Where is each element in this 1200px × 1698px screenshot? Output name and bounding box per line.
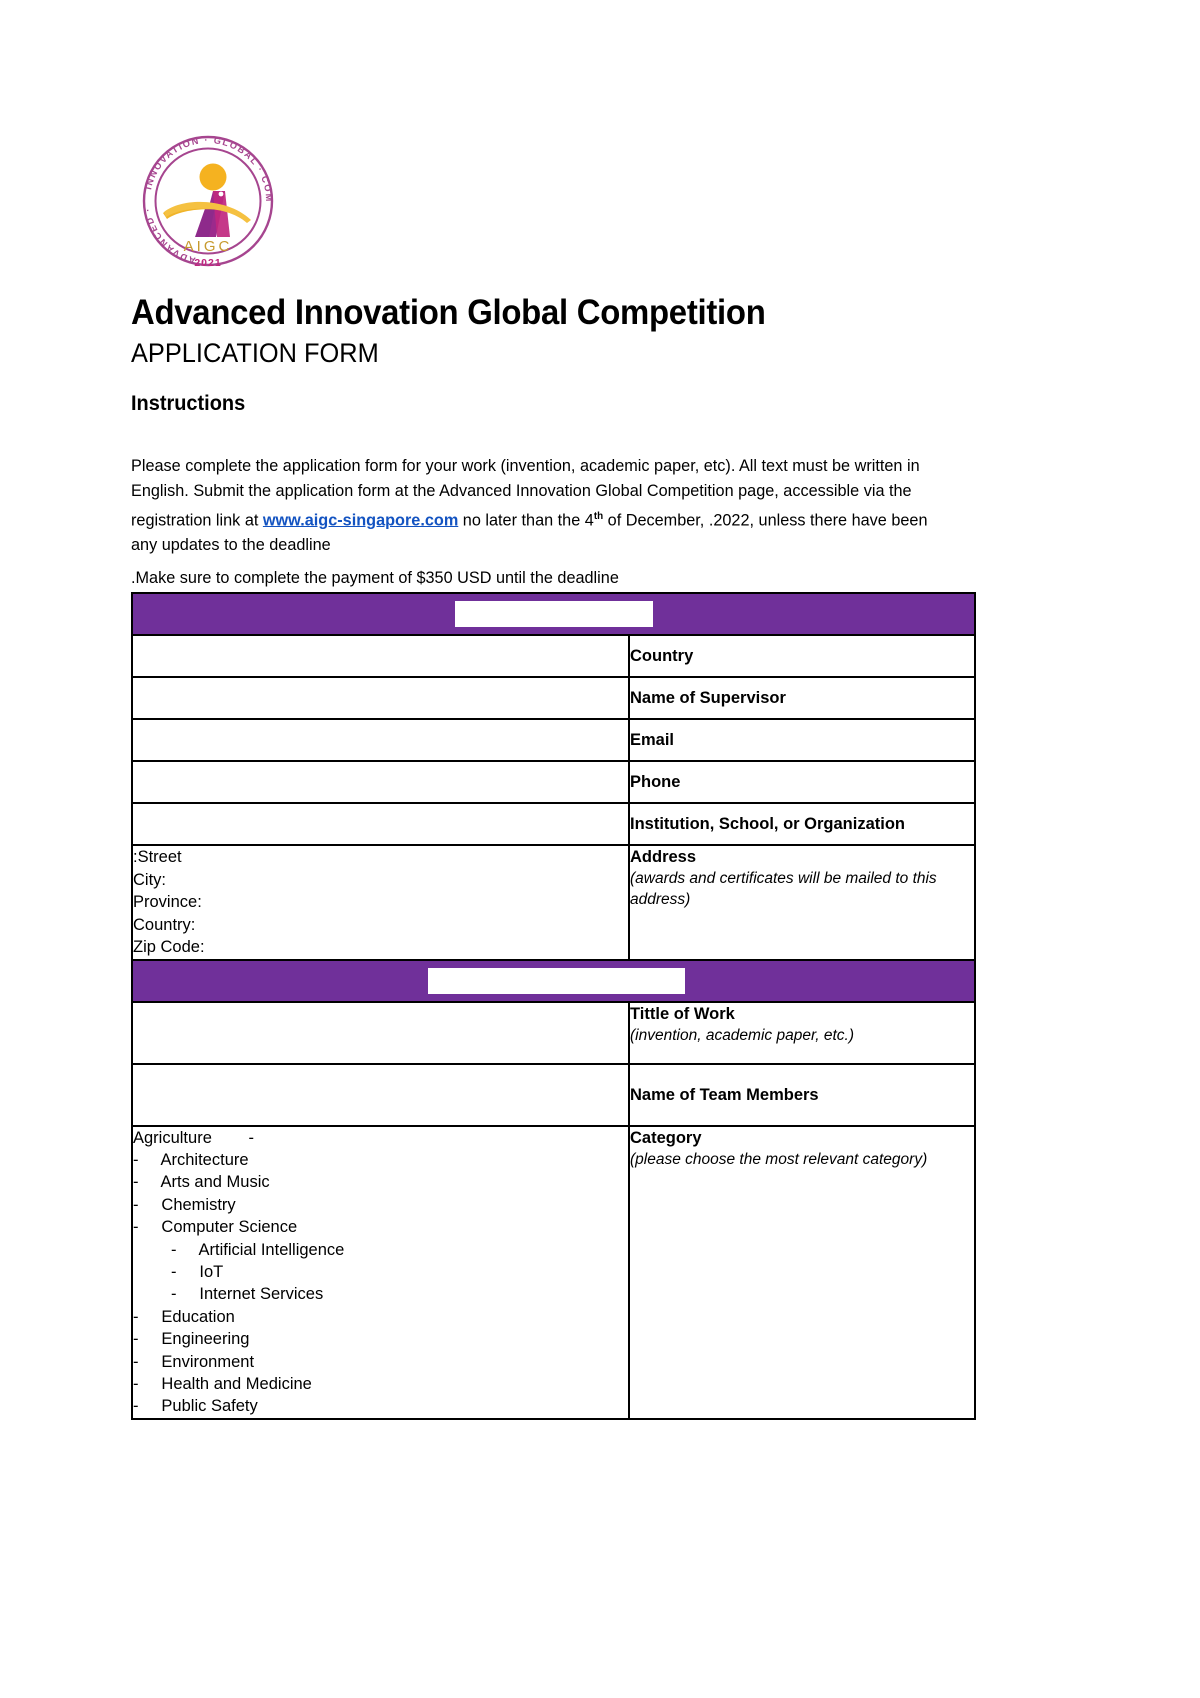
input-cell-address[interactable]: :Street City: Province: Country: Zip Cod… (132, 845, 629, 960)
category-subitem[interactable]: - Internet Services (133, 1283, 628, 1305)
aigc-logo: INNOVATION · GLOBAL · COMPETITION · ADVA… (133, 133, 283, 275)
table-row: Email (132, 719, 975, 761)
address-line-zip: Zip Code: (133, 936, 628, 959)
band-input-box-2[interactable] (428, 968, 685, 994)
table-row: Name of Team Members (132, 1064, 975, 1126)
page-title: Advanced Innovation Global Competition (131, 293, 766, 333)
payment-note: .Make sure to complete the payment of $3… (131, 566, 951, 591)
svg-text:AIGC: AIGC (184, 238, 233, 255)
document-page: INNOVATION · GLOBAL · COMPETITION · ADVA… (0, 0, 1200, 1698)
table-row-address: :Street City: Province: Country: Zip Cod… (132, 845, 975, 960)
label-title-of-work: Tittle of Work (invention, academic pape… (629, 1002, 975, 1064)
label-country: Country (629, 635, 975, 677)
table-row: Tittle of Work (invention, academic pape… (132, 1002, 975, 1064)
section-band-work-cell (132, 960, 975, 1002)
label-address-note: (awards and certificates will be mailed … (630, 868, 974, 910)
input-cell-team-members[interactable] (132, 1064, 629, 1126)
instructions-paragraph: Please complete the application form for… (131, 454, 951, 559)
label-phone: Phone (629, 761, 975, 803)
category-subitem[interactable]: - IoT (133, 1261, 628, 1283)
category-item[interactable]: - Environment (133, 1351, 628, 1373)
label-title-of-work-title: Tittle of Work (630, 1005, 735, 1023)
label-address: Address (awards and certificates will be… (629, 845, 975, 960)
category-item[interactable]: - Public Safety (133, 1395, 628, 1417)
address-line-street: :Street (133, 846, 628, 869)
table-row: Name of Supervisor (132, 677, 975, 719)
category-item[interactable]: - Engineering (133, 1328, 628, 1350)
label-team-members: Name of Team Members (629, 1064, 975, 1126)
svg-text:2021: 2021 (194, 257, 221, 269)
ordinal-suffix: th (594, 511, 603, 522)
band-input-box-1[interactable] (455, 601, 653, 627)
aigc-logo-icon: INNOVATION · GLOBAL · COMPETITION · ADVA… (133, 133, 283, 275)
address-line-province: Province: (133, 891, 628, 914)
instructions-heading: Instructions (131, 391, 245, 417)
label-category-note: (please choose the most relevant categor… (630, 1149, 974, 1170)
category-item[interactable]: - Computer Science (133, 1216, 628, 1238)
section-band-personal-cell (132, 593, 975, 635)
label-institution: Institution, School, or Organization (629, 803, 975, 845)
table-row: Institution, School, or Organization (132, 803, 975, 845)
label-category-title: Category (630, 1129, 702, 1147)
input-cell-email[interactable] (132, 719, 629, 761)
table-row: Phone (132, 761, 975, 803)
category-item-agriculture[interactable]: Agriculture - (133, 1127, 628, 1149)
category-options-cell[interactable]: Agriculture - - Architecture - Arts and … (132, 1126, 629, 1419)
category-item[interactable]: - Architecture (133, 1149, 628, 1171)
table-row-category: Agriculture - - Architecture - Arts and … (132, 1126, 975, 1419)
address-line-country: Country: (133, 914, 628, 937)
input-cell-supervisor[interactable] (132, 677, 629, 719)
instructions-text-part2: no later than the 4 (458, 511, 594, 529)
category-item[interactable]: - Chemistry (133, 1194, 628, 1216)
label-address-title: Address (630, 848, 696, 866)
input-cell-country[interactable] (132, 635, 629, 677)
table-row: Country (132, 635, 975, 677)
category-subitem[interactable]: - Artificial Intelligence (133, 1239, 628, 1261)
input-cell-institution[interactable] (132, 803, 629, 845)
page-subtitle: APPLICATION FORM (131, 337, 379, 369)
application-form-table: Country Name of Supervisor Email Phone I… (131, 592, 976, 1420)
category-item[interactable]: - Arts and Music (133, 1171, 628, 1193)
label-category: Category (please choose the most relevan… (629, 1126, 975, 1419)
address-line-city: City: (133, 869, 628, 892)
label-supervisor: Name of Supervisor (629, 677, 975, 719)
label-email: Email (629, 719, 975, 761)
category-item[interactable]: - Health and Medicine (133, 1373, 628, 1395)
section-band-personal (132, 593, 975, 635)
input-cell-title-of-work[interactable] (132, 1002, 629, 1064)
registration-link[interactable]: www.aigc-singapore.com (263, 511, 458, 529)
input-cell-phone[interactable] (132, 761, 629, 803)
section-band-work (132, 960, 975, 1002)
label-title-of-work-note: (invention, academic paper, etc.) (630, 1025, 974, 1046)
category-item[interactable]: - Education (133, 1306, 628, 1328)
